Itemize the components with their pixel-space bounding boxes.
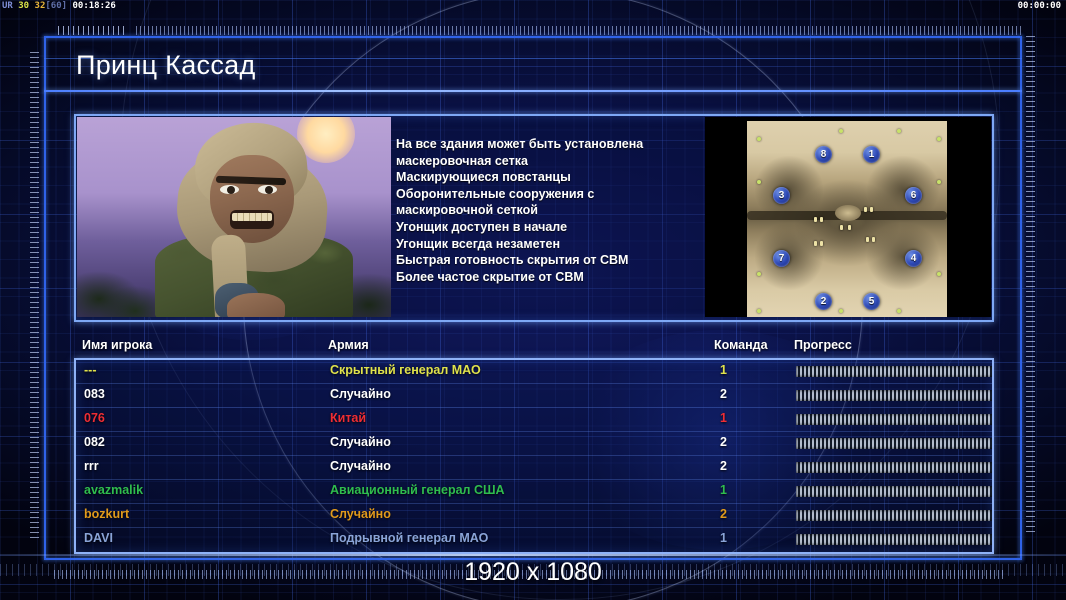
portrait-brows bbox=[216, 176, 286, 185]
map-oil-derrick-icon bbox=[864, 207, 867, 212]
info-panel: На все здания может быть установлена мас… bbox=[74, 114, 994, 322]
table-row[interactable]: avazmalikАвиационный генерал США1 bbox=[76, 480, 992, 504]
table-row[interactable]: 076Китай1 bbox=[76, 408, 992, 432]
cell-team: 2 bbox=[720, 435, 727, 449]
cell-team: 2 bbox=[720, 507, 727, 521]
map-oil-derrick-icon bbox=[870, 207, 873, 212]
table-row[interactable]: 082Случайно2 bbox=[76, 432, 992, 456]
map-oil-derrick-icon bbox=[820, 241, 823, 246]
player-table: ---Скрытный генерал МАО1083Случайно2076К… bbox=[74, 358, 994, 554]
cell-army: Авиационный генерал США bbox=[330, 483, 505, 497]
cell-team: 2 bbox=[720, 459, 727, 473]
cell-team: 2 bbox=[720, 387, 727, 401]
page-title: Принц Кассад bbox=[76, 50, 256, 81]
frame-border-right bbox=[1020, 36, 1022, 560]
status-bar: UR 30 32[60] 00:18:26 00:00:00 bbox=[0, 0, 1066, 14]
cell-player-name: avazmalik bbox=[84, 483, 143, 497]
status-value-2: 32 bbox=[35, 1, 46, 11]
portrait-eye-left bbox=[220, 185, 239, 194]
map-supply-icon bbox=[937, 272, 941, 276]
portrait-hand bbox=[227, 293, 285, 317]
table-row[interactable]: ---Скрытный генерал МАО1 bbox=[76, 360, 992, 384]
map-supply-icon bbox=[757, 272, 761, 276]
ruler-tick-top-left bbox=[58, 26, 124, 35]
cell-team: 1 bbox=[720, 363, 727, 377]
map-oil-derrick-icon bbox=[872, 237, 875, 242]
progress-bar bbox=[796, 462, 994, 473]
map-oil-derrick-icon bbox=[820, 217, 823, 222]
progress-bar bbox=[796, 366, 994, 377]
resolution-highlight-line bbox=[0, 554, 1066, 556]
portrait-eye-right bbox=[258, 185, 277, 194]
table-row[interactable]: 083Случайно2 bbox=[76, 384, 992, 408]
map-oil-derrick-icon bbox=[848, 225, 851, 230]
cell-team: 1 bbox=[720, 483, 727, 497]
column-header-player-name: Имя игрока bbox=[82, 338, 152, 352]
status-bar-clock: 00:00:00 bbox=[1018, 1, 1061, 11]
map-start-position-marker: 2 bbox=[815, 293, 832, 310]
map-supply-icon bbox=[839, 129, 843, 133]
map-oil-derrick-icon bbox=[866, 237, 869, 242]
portrait-teeth bbox=[232, 213, 272, 221]
cell-player-name: bozkurt bbox=[84, 507, 129, 521]
cell-player-name: --- bbox=[84, 363, 97, 377]
column-header-team: Команда bbox=[714, 338, 768, 352]
player-table-header: Имя игрока Армия Команда Прогресс bbox=[74, 338, 994, 356]
cell-player-name: 083 bbox=[84, 387, 105, 401]
portrait-pupil bbox=[227, 186, 235, 194]
map-supply-icon bbox=[897, 129, 901, 133]
frame-border-top bbox=[44, 36, 1022, 38]
cell-army: Случайно bbox=[330, 435, 391, 449]
ruler-tick-left bbox=[30, 52, 39, 540]
resolution-label: 1920 x 1080 bbox=[0, 558, 1066, 587]
cell-team: 1 bbox=[720, 411, 727, 425]
cell-team: 1 bbox=[720, 531, 727, 545]
map-supply-icon bbox=[757, 309, 761, 313]
map-start-position-marker: 8 bbox=[815, 146, 832, 163]
portrait-face bbox=[210, 155, 294, 243]
cell-army: Скрытный генерал МАО bbox=[330, 363, 481, 377]
cell-player-name: 082 bbox=[84, 435, 105, 449]
portrait-pupil bbox=[265, 186, 273, 194]
table-row[interactable]: rrrСлучайно2 bbox=[76, 456, 992, 480]
cell-player-name: 076 bbox=[84, 411, 105, 425]
cell-army: Подрывной генерал МАО bbox=[330, 531, 488, 545]
title-separator bbox=[44, 90, 1022, 92]
cell-player-name: DAVI bbox=[84, 531, 113, 545]
cell-player-name: rrr bbox=[84, 459, 99, 473]
general-portrait bbox=[77, 117, 391, 317]
map-supply-icon bbox=[839, 309, 843, 313]
status-elapsed-time: 00:18:26 bbox=[72, 1, 115, 11]
status-tag: UR bbox=[2, 1, 13, 11]
map-start-position-marker: 5 bbox=[863, 293, 880, 310]
map-oil-derrick-icon bbox=[814, 241, 817, 246]
progress-bar bbox=[796, 534, 994, 545]
status-bar-left: UR 30 32[60] 00:18:26 bbox=[2, 1, 116, 11]
status-value-1: 30 bbox=[18, 1, 29, 11]
map-oil-derrick-icon bbox=[840, 225, 843, 230]
cell-army: Китай bbox=[330, 411, 366, 425]
table-row[interactable]: bozkurtСлучайно2 bbox=[76, 504, 992, 528]
map-supply-icon bbox=[937, 180, 941, 184]
map-oil-derrick-icon bbox=[814, 217, 817, 222]
resolution-overlay: 1920 x 1080 bbox=[0, 548, 1066, 600]
portrait-mouth bbox=[230, 210, 274, 229]
column-header-progress: Прогресс bbox=[794, 338, 852, 352]
map-supply-icon bbox=[757, 180, 761, 184]
map-supply-icon bbox=[757, 137, 761, 141]
cell-army: Случайно bbox=[330, 387, 391, 401]
ruler-tick-right bbox=[1026, 36, 1035, 536]
map-supply-icon bbox=[937, 137, 941, 141]
map-preview: 81367425 bbox=[705, 117, 991, 317]
cell-army: Случайно bbox=[330, 507, 391, 521]
progress-bar bbox=[796, 414, 994, 425]
general-ability-description: На все здания может быть установлена мас… bbox=[396, 136, 696, 285]
progress-bar bbox=[796, 438, 994, 449]
cell-army: Случайно bbox=[330, 459, 391, 473]
progress-bar bbox=[796, 510, 994, 521]
progress-bar bbox=[796, 486, 994, 497]
map-supply-icon bbox=[897, 309, 901, 313]
status-value-3: [60] bbox=[45, 1, 67, 11]
column-header-army: Армия bbox=[328, 338, 369, 352]
map-terrain-shade bbox=[795, 180, 899, 266]
frame-border-left bbox=[44, 36, 46, 560]
ruler-tick-top bbox=[136, 26, 1022, 35]
progress-bar bbox=[796, 390, 994, 401]
map-image: 81367425 bbox=[747, 121, 947, 317]
